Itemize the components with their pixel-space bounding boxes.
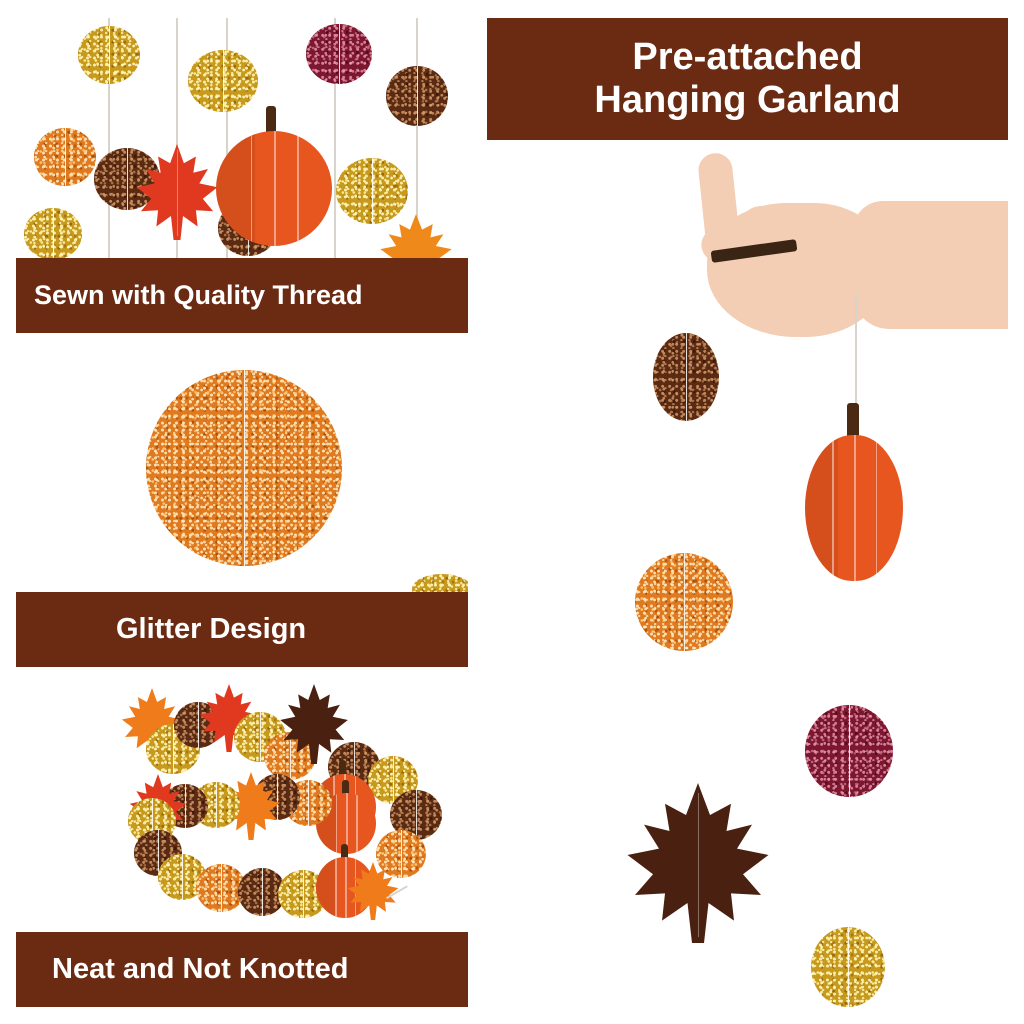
maroon-glitter-dot (805, 705, 893, 797)
maroon-glitter-dot (306, 24, 372, 84)
pumpkin-icon (216, 106, 332, 246)
banner-title: Pre-attached Hanging Garland (487, 18, 1008, 140)
leaf-stitch-line (177, 150, 178, 236)
orange-glitter-dot (34, 128, 96, 186)
pumpkin-body (216, 131, 332, 246)
gold-glitter-dot (412, 574, 468, 592)
banner-line-2: Hanging Garland (594, 79, 900, 122)
thread-line (855, 293, 857, 359)
orange-glitter-dot-large (146, 370, 342, 566)
leaf-stitch-line (698, 793, 699, 937)
hand-holding-garland-photo (487, 145, 1008, 1007)
gold-glitter-dot (336, 158, 408, 224)
pumpkin-icon (805, 403, 903, 581)
hand-icon (657, 145, 1008, 375)
glitter-circle-closeup-photo (16, 352, 468, 592)
panel-caption-knot: Neat and Not Knotted (16, 932, 468, 1007)
gold-glitter-dot (78, 26, 140, 84)
garland-closeup-photo (16, 18, 468, 258)
panel-caption-sewn: Sewn with Quality Thread (16, 258, 468, 333)
orange-glitter-dot (635, 553, 733, 651)
brown-glitter-dot (386, 66, 448, 126)
panel-knot: Neat and Not Knotted (16, 684, 468, 1007)
forearm (853, 201, 1008, 329)
gold-glitter-dot (811, 927, 885, 1007)
banner-line-1: Pre-attached (632, 36, 862, 79)
coiled-garland-photo (16, 684, 468, 932)
pumpkin-body (805, 435, 903, 581)
product-infographic: Sewn with Quality Thread Glitter Design (0, 0, 1024, 1024)
orange-maple-leaf-icon (378, 214, 454, 258)
panel-caption-glitter: Glitter Design (16, 592, 468, 667)
panel-glitter: Glitter Design (16, 352, 468, 667)
panel-sewn: Sewn with Quality Thread (16, 18, 468, 333)
gold-glitter-dot (24, 208, 82, 258)
brown-glitter-dot (653, 333, 719, 421)
gold-glitter-dot (188, 50, 258, 112)
